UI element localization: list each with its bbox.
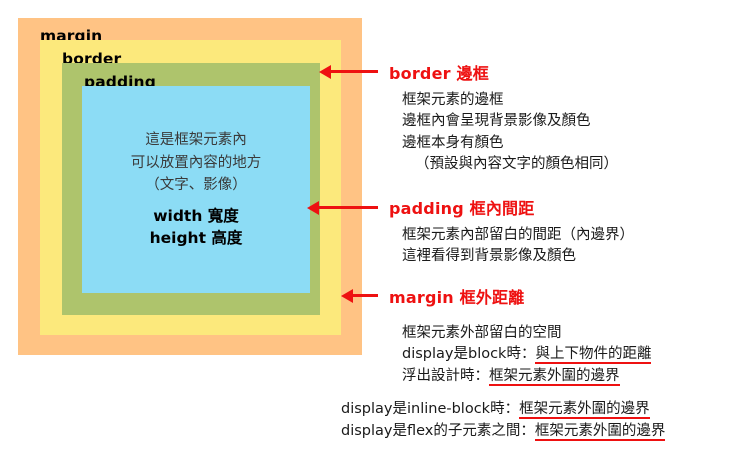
- margin-box: margin border padding 這是框架元素內 可以放置內容的地方 …: [18, 18, 362, 355]
- content-line: （文字、影像）: [145, 174, 247, 196]
- padding-annotation-heading: padding 框內間距: [389, 195, 634, 219]
- annotation-line: 浮出設計時：框架元素外圍的邊界: [402, 366, 651, 387]
- margin-annotation: margin 框外距離 框架元素外部留白的空間 display是block時：與…: [389, 284, 651, 387]
- margin-callout-arrow: [352, 294, 378, 297]
- border-annotation-body: 框架元素的邊框 邊框內會呈現背景影像及顏色 邊框本身有顏色 （預設與內容文字的顏…: [389, 90, 618, 175]
- border-annotation-heading: border 邊框: [389, 60, 618, 84]
- annotation-line-underlined: 與上下物件的距離: [535, 346, 651, 364]
- box-model-diagram: margin border padding 這是框架元素內 可以放置內容的地方 …: [0, 0, 750, 461]
- annotation-line: 這裡看得到背景影像及顏色: [402, 246, 634, 267]
- annotation-line-prefix: display是inline-block時：: [341, 401, 519, 417]
- annotation-line-underlined: 框架元素外圍的邊界: [519, 401, 650, 419]
- padding-box: padding 這是框架元素內 可以放置內容的地方 （文字、影像） width …: [62, 63, 320, 315]
- annotation-line: 框架元素內部留白的間距（內邊界）: [402, 225, 634, 246]
- annotation-line-underlined: 框架元素外圍的邊界: [535, 423, 666, 441]
- content-box: 這是框架元素內 可以放置內容的地方 （文字、影像） width 寬度 heigh…: [82, 86, 310, 293]
- annotation-line: 框架元素的邊框: [402, 90, 618, 111]
- border-box: border padding 這是框架元素內 可以放置內容的地方 （文字、影像）…: [40, 40, 341, 335]
- content-height-label: height 高度: [150, 227, 243, 249]
- annotation-line-prefix: 浮出設計時：: [402, 368, 489, 384]
- padding-annotation-body: 框架元素內部留白的間距（內邊界） 這裡看得到背景影像及顏色: [389, 225, 634, 268]
- margin-annotation-body: 框架元素外部留白的空間 display是block時：與上下物件的距離 浮出設計…: [389, 314, 651, 387]
- content-width-label: width 寬度: [153, 205, 239, 227]
- annotation-line: 框架元素外部留白的空間: [402, 323, 651, 344]
- padding-annotation: padding 框內間距 框架元素內部留白的間距（內邊界） 這裡看得到背景影像及…: [389, 195, 634, 268]
- content-line: 這是框架元素內: [145, 129, 247, 151]
- display-mode-notes: display是inline-block時：框架元素外圍的邊界 display是…: [341, 399, 665, 443]
- annotation-line-prefix: display是flex的子元素之間：: [341, 423, 535, 439]
- border-callout-arrow: [330, 70, 378, 73]
- margin-annotation-heading: margin 框外距離: [389, 284, 651, 308]
- annotation-line: display是inline-block時：框架元素外圍的邊界: [341, 399, 665, 421]
- annotation-line-prefix: display是block時：: [402, 346, 535, 362]
- annotation-line-underlined: 框架元素外圍的邊界: [489, 368, 620, 386]
- annotation-line: display是flex的子元素之間：框架元素外圍的邊界: [341, 421, 665, 443]
- annotation-line: display是block時：與上下物件的距離: [402, 344, 651, 365]
- annotation-line: （預設與內容文字的顏色相同）: [402, 154, 618, 175]
- annotation-line: 邊框內會呈現背景影像及顏色: [402, 111, 618, 132]
- border-annotation: border 邊框 框架元素的邊框 邊框內會呈現背景影像及顏色 邊框本身有顏色 …: [389, 60, 618, 175]
- annotation-line: 邊框本身有顏色: [402, 133, 618, 154]
- content-line: 可以放置內容的地方: [131, 152, 262, 174]
- padding-callout-arrow: [318, 206, 378, 209]
